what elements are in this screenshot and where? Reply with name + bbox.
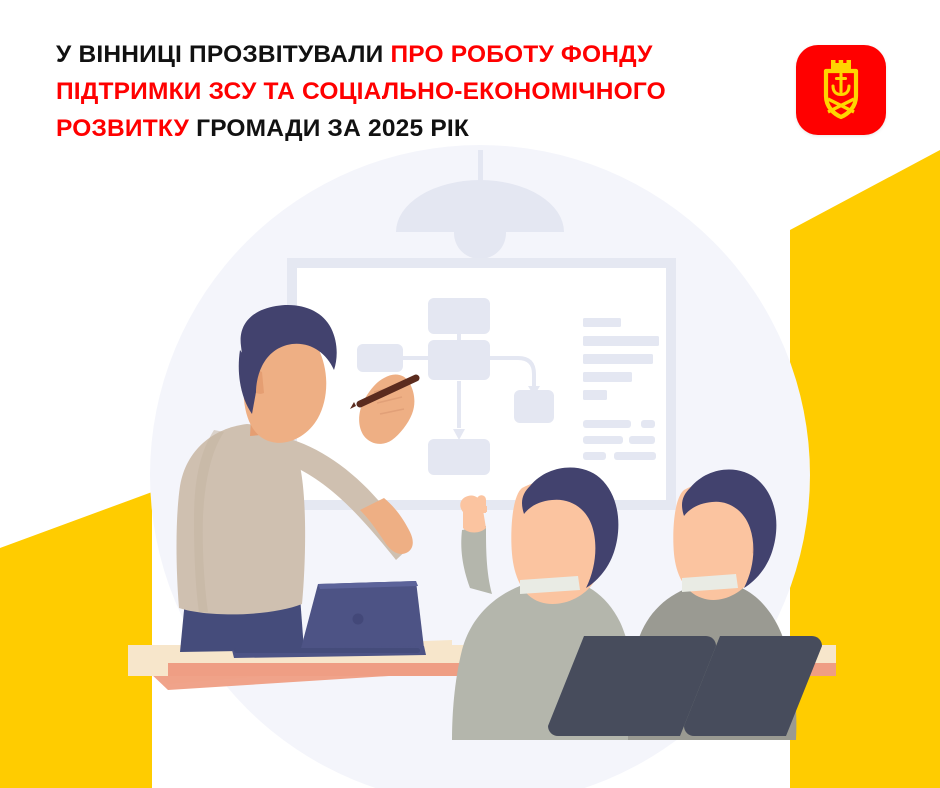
flowchart-box-center xyxy=(428,340,490,380)
crown-icon xyxy=(831,60,851,70)
coat-of-arms-icon xyxy=(815,59,867,121)
laptop-keyboard-line xyxy=(234,648,420,653)
anchor-cross-icon xyxy=(833,74,849,95)
page-title: У ВІННИЦІ ПРОЗВІТУВАЛИ ПРО РОБОТУ ФОНДУ … xyxy=(56,36,716,148)
headline-plain-start: У ВІННИЦІ ПРОЗВІТУВАЛИ xyxy=(56,41,390,68)
flowchart-box-left xyxy=(357,344,403,372)
flowchart-box-bottom xyxy=(428,439,490,475)
headline-plain-end: ГРОМАДИ ЗА 2025 РІК xyxy=(189,115,469,142)
laptop-logo xyxy=(353,614,364,625)
flowchart-box-top xyxy=(428,298,490,334)
vinnytsia-coat-of-arms-logo[interactable] xyxy=(796,45,886,135)
yellow-shape-right xyxy=(790,150,940,788)
desk-left-corner xyxy=(128,645,168,676)
news-banner: У ВІННИЦІ ПРОЗВІТУВАЛИ ПРО РОБОТУ ФОНДУ … xyxy=(0,0,940,788)
crossed-bands-icon xyxy=(828,99,854,112)
flowchart-box-right xyxy=(514,390,554,423)
chairs xyxy=(548,636,822,736)
